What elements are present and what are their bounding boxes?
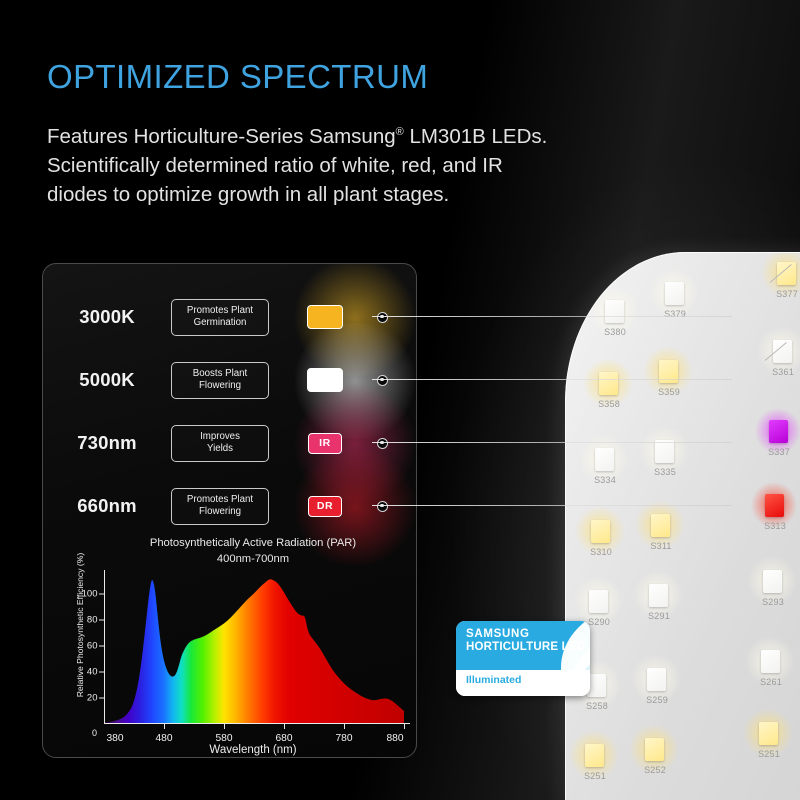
chart-x-tick-label: 580: [216, 733, 233, 744]
chart-x-tick-mark: [224, 724, 225, 729]
spec-row: 5000KBoosts PlantFlowering: [43, 349, 417, 411]
page-subtitle: Features Horticulture-Series Samsung® LM…: [47, 122, 707, 209]
callout-leader-line: [372, 442, 732, 443]
spec-swatch-wrapper: [289, 359, 361, 401]
led-id-label: S290: [588, 617, 610, 627]
led-color-swatch: DR: [308, 496, 342, 517]
chart-subtitle: 400nm-700nm: [217, 553, 289, 565]
led-diode: [599, 372, 618, 395]
chart-plot-area: 20406080100 380480580680780880 0: [104, 574, 404, 724]
chart-y-tick-label: 60: [87, 640, 103, 651]
callout-node: [377, 375, 388, 386]
led-diode: [585, 744, 604, 767]
spec-benefit-line-2: Flowering: [199, 380, 241, 392]
spec-wavelength-label: 3000K: [43, 306, 171, 328]
product-infographic: OPTIMIZED SPECTRUM Features Horticulture…: [0, 0, 800, 800]
chart-y-axis-label: Relative Photosynthetic Efficiency (%): [75, 535, 85, 715]
spec-wavelength-label: 660nm: [43, 495, 171, 517]
registered-mark: ®: [396, 126, 404, 138]
chart-x-tick-label: 480: [156, 733, 173, 744]
spec-row: 730nmImprovesYieldsIR: [43, 412, 417, 474]
led-diode: [645, 738, 664, 761]
chart-x-axis-label: Wavelength (nm): [98, 744, 408, 756]
spec-benefit-line-2: Yields: [207, 443, 233, 455]
spec-benefit-box: Boosts PlantFlowering: [171, 362, 269, 399]
chart-title-main: Photosynthetically Active Radiation (PAR…: [150, 537, 356, 549]
led-diode: [651, 514, 670, 537]
spec-row: 3000KPromotes PlantGermination: [43, 286, 417, 348]
chart-y-tick-label: 20: [87, 692, 103, 703]
spec-benefit-line-1: Improves: [200, 431, 240, 443]
led-id-label: S334: [594, 475, 616, 485]
led-id-label: S293: [762, 597, 784, 607]
led-diode: [763, 570, 782, 593]
led-id-label: S335: [654, 467, 676, 477]
spec-wavelength-label: 5000K: [43, 369, 171, 391]
led-color-swatch: [307, 305, 343, 329]
led-id-label: S310: [590, 547, 612, 557]
led-id-label: S311: [650, 541, 671, 551]
chart-x-tick-mark: [284, 724, 285, 729]
led-id-label: S251: [584, 771, 606, 781]
chart-x-tick-label: 780: [336, 733, 353, 744]
subtitle-part-3: Scientifically determined ratio of white…: [47, 154, 503, 206]
led-id-label: S359: [658, 387, 680, 397]
leaf-icon: [528, 621, 590, 696]
led-board: S380S379S377S376S358S359S361S362S334S335…: [565, 252, 800, 800]
spectrum-spec-card: 3000KPromotes PlantGermination5000KBoost…: [42, 263, 417, 758]
led-diode: [655, 440, 674, 463]
callout-leader-line: [372, 505, 732, 506]
spec-benefit-line-2: Flowering: [199, 506, 241, 518]
led-diode: [769, 420, 788, 443]
par-chart: Photosynthetically Active Radiation (PAR…: [58, 528, 410, 756]
spec-benefit-line-1: Promotes Plant: [187, 494, 253, 506]
led-diode: [647, 668, 666, 691]
spec-benefit-box: Promotes PlantGermination: [171, 299, 269, 336]
spec-swatch-wrapper: IR: [289, 422, 361, 464]
chart-x-tick-mark: [404, 724, 405, 729]
chart-title: Photosynthetically Active Radiation (PAR…: [98, 536, 408, 568]
led-id-label: S377: [776, 289, 798, 299]
page-title: OPTIMIZED SPECTRUM: [47, 58, 707, 96]
chart-x-tick-label: 680: [276, 733, 293, 744]
chart-y-tick-label: 80: [87, 614, 103, 625]
led-id-label: S251: [758, 749, 780, 759]
spec-benefit-box: ImprovesYields: [171, 425, 269, 462]
led-id-label: S313: [764, 521, 786, 531]
chart-x-tick-label: 880: [387, 733, 404, 744]
spec-benefit-line-1: Promotes Plant: [187, 305, 253, 317]
led-diode: [605, 300, 624, 323]
led-diode: [765, 494, 784, 517]
led-diode: [595, 448, 614, 471]
spec-benefit-box: Promotes PlantFlowering: [171, 488, 269, 525]
callout-node: [377, 312, 388, 323]
led-id-label: S358: [598, 399, 620, 409]
led-id-label: S361: [772, 367, 794, 377]
callout-leader-line: [372, 379, 732, 380]
led-id-label: S259: [646, 695, 668, 705]
spec-wavelength-label: 730nm: [43, 432, 171, 454]
chart-y-tick-label: 40: [87, 666, 103, 677]
led-id-label: S337: [768, 447, 790, 457]
header: OPTIMIZED SPECTRUM Features Horticulture…: [47, 58, 707, 209]
chart-x-tick-mark: [164, 724, 165, 729]
led-id-label: S380: [604, 327, 626, 337]
chart-y-tick-label: 100: [82, 588, 103, 599]
led-diode: [591, 520, 610, 543]
callout-node: [377, 501, 388, 512]
led-diode: [761, 650, 780, 673]
led-diode: [665, 282, 684, 305]
led-id-label: S379: [664, 309, 686, 319]
callout-leader-line: [372, 316, 732, 317]
led-diode: [589, 590, 608, 613]
led-diode: [649, 584, 668, 607]
badge-header: SAMSUNG HORTICULTURE LED: [456, 621, 590, 670]
led-id-label: S258: [586, 701, 608, 711]
spec-swatch-wrapper: [289, 296, 361, 338]
led-color-swatch: [307, 368, 343, 392]
callout-node: [377, 438, 388, 449]
led-id-label: S291: [648, 611, 670, 621]
chart-x-tick-label: 380: [107, 733, 124, 744]
led-color-swatch: IR: [308, 433, 342, 454]
led-id-label: S252: [644, 765, 666, 775]
samsung-horticulture-badge: SAMSUNG HORTICULTURE LED Illuminated: [456, 621, 590, 696]
chart-x-tick-mark: [344, 724, 345, 729]
spec-benefit-line-1: Boosts Plant: [193, 368, 247, 380]
led-id-label: S261: [760, 677, 782, 687]
spec-swatch-wrapper: DR: [289, 485, 361, 527]
subtitle-part-2: LM301B LEDs.: [404, 125, 548, 148]
chart-zero-label: 0: [92, 728, 97, 738]
led-diode: [759, 722, 778, 745]
chart-y-ticks: 20406080100: [104, 574, 404, 724]
subtitle-part-1: Features Horticulture-Series Samsung: [47, 125, 396, 148]
spec-benefit-line-2: Germination: [194, 317, 247, 329]
